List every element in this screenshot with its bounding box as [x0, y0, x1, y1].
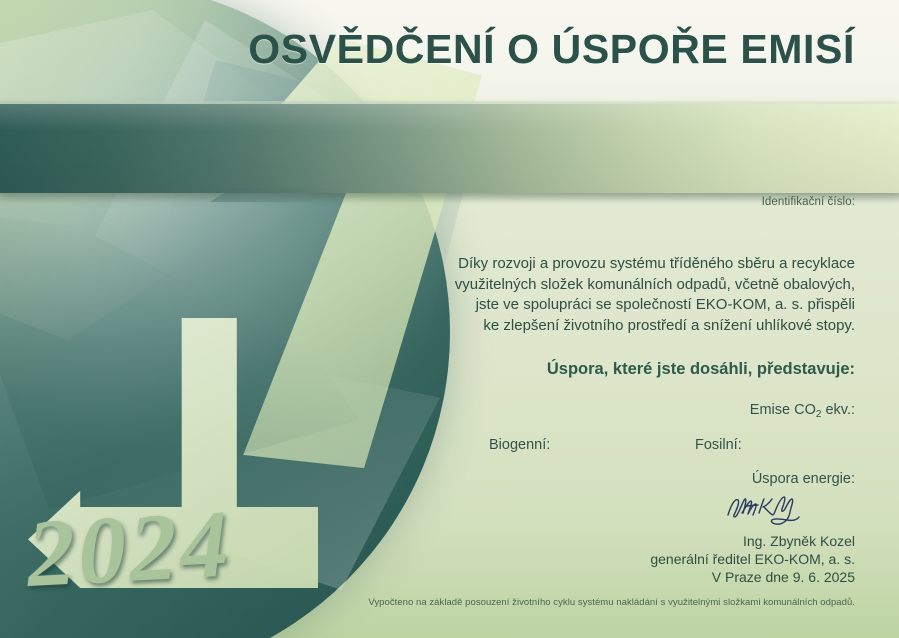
page-title: OSVĚDČENÍ O ÚSPOŘE EMISÍ [0, 26, 855, 73]
footnote: Vypočteno na základě posouzení životního… [155, 597, 855, 608]
ribbon-band-highlight [0, 104, 899, 193]
emissions-label-prefix: Emise CO [750, 402, 816, 418]
identification-number-label: Identifikační číslo: [335, 196, 855, 208]
certificate-page: OSVĚDČENÍ O ÚSPOŘE EMISÍ Identifikační č… [0, 0, 899, 638]
signatory-name: Ing. Zbyněk Kozel [335, 533, 855, 549]
emissions-label-suffix: ekv.: [821, 402, 855, 418]
intro-paragraph-line: využitelných složek komunálních odpadů, … [335, 275, 855, 296]
emissions-label: Emise CO2 ekv.: [335, 402, 855, 420]
emissions-breakdown-row: Biogenní: Fosilní: [335, 437, 855, 453]
savings-headline: Úspora, které jste dosáhli, představuje: [335, 360, 855, 379]
content-column: Identifikační číslo: Díky rozvoji a prov… [335, 196, 855, 487]
intro-paragraph-line: Díky rozvoji a provozu systému tříděného… [335, 254, 855, 275]
energy-savings-label: Úspora energie: [335, 471, 855, 487]
intro-paragraph: Díky rozvoji a provozu systému tříděného… [335, 254, 855, 336]
signature-block: Ing. Zbyněk Kozel generální ředitel EKO-… [335, 493, 855, 585]
intro-paragraph-line: jste ve spolupráci se společností EKO-KO… [335, 295, 855, 316]
biogenic-label: Biogenní: [489, 437, 695, 453]
signature-place-date: V Praze dne 9. 6. 2025 [335, 569, 855, 585]
signatory-role: generální ředitel EKO-KOM, a. s. [335, 551, 855, 567]
fossil-label: Fosilní: [695, 437, 855, 453]
year-badge: 2024 [24, 487, 234, 609]
handwritten-signature-icon [725, 493, 803, 532]
intro-paragraph-line: ke zlepšení životního prostředí a snížen… [335, 316, 855, 337]
